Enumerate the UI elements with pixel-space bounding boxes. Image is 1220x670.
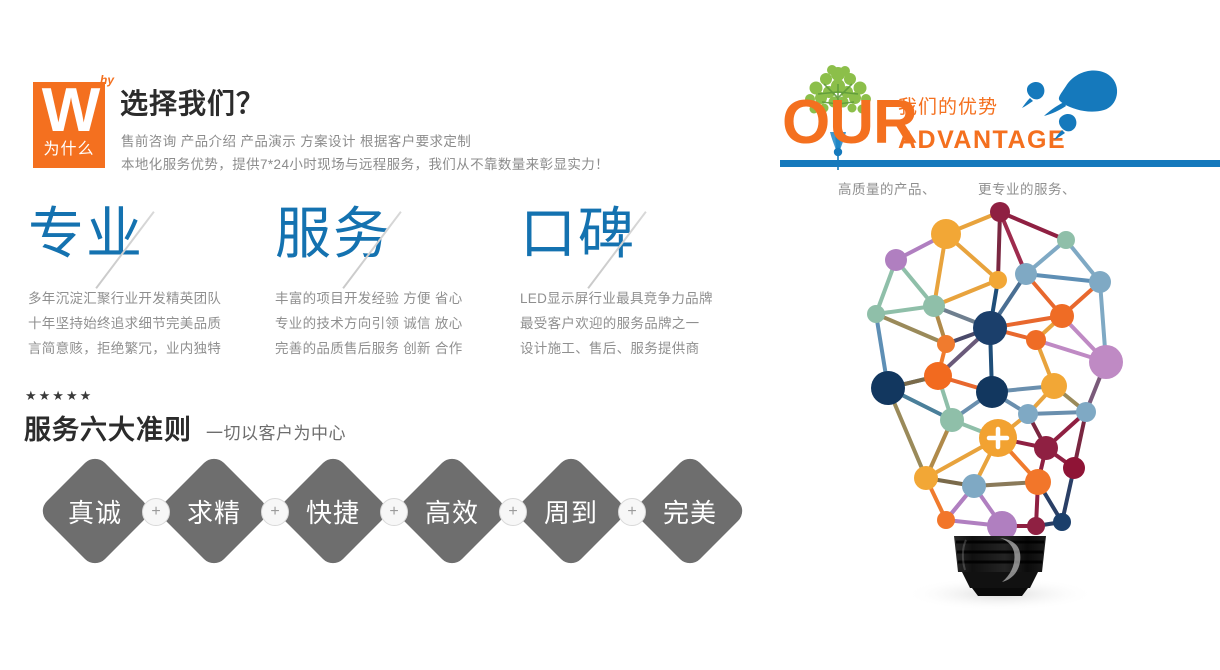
feature-line: 专业的技术方向引领 诚信 放心 bbox=[275, 311, 515, 336]
feature-heading: 服务 bbox=[275, 200, 391, 272]
why-logo-caption: 为什么 bbox=[33, 135, 105, 159]
feature-line: 丰富的项目开发经验 方便 省心 bbox=[275, 286, 515, 311]
our-wordmark: OUR bbox=[782, 92, 917, 154]
feature-column-service: 服务 丰富的项目开发经验 方便 省心 专业的技术方向引领 诚信 放心 完善的品质… bbox=[275, 200, 505, 360]
feature-heading: 专业 bbox=[28, 200, 144, 272]
feature-body: 丰富的项目开发经验 方便 省心 专业的技术方向引领 诚信 放心 完善的品质售后服… bbox=[275, 286, 515, 361]
feature-line: 言简意赅，拒绝繁冗，业内独特 bbox=[28, 336, 268, 361]
principle-diamond bbox=[394, 453, 510, 569]
principle-diamond bbox=[156, 453, 272, 569]
plus-connector-icon: + bbox=[618, 498, 646, 526]
feature-line: 完善的品质售后服务 创新 合作 bbox=[275, 336, 515, 361]
lightbulb-network-illustration bbox=[850, 196, 1150, 616]
principles-diamond-row: 真诚 求精 快捷 高效 周到 完美 + + + + + bbox=[18, 462, 758, 582]
why-logo-letter: W bbox=[33, 80, 105, 142]
plus-connector-icon: + bbox=[261, 498, 289, 526]
principle-diamond bbox=[513, 453, 629, 569]
feature-line: 设计施工、售后、服务提供商 bbox=[520, 336, 760, 361]
feature-heading: 口碑 bbox=[520, 200, 636, 272]
feature-line: LED显示屏行业最具竞争力品牌 bbox=[520, 286, 760, 311]
why-subtitle-line-1: 售前咨询 产品介绍 产品演示 方案设计 根据客户要求定制 bbox=[121, 130, 471, 150]
feature-column-professional: 专业 多年沉淀汇聚行业开发精英团队 十年坚持始终追求细节完美品质 言简意赅，拒绝… bbox=[28, 200, 258, 360]
feature-column-reputation: 口碑 LED显示屏行业最具竞争力品牌 最受客户欢迎的服务品牌之一 设计施工、售后… bbox=[520, 200, 750, 360]
feature-line: 最受客户欢迎的服务品牌之一 bbox=[520, 311, 760, 336]
principles-title: 服务六大准则 bbox=[24, 408, 192, 447]
page-title: 选择我们？ bbox=[120, 82, 265, 122]
principles-subtitle: 一切以客户为中心 bbox=[206, 419, 346, 444]
principle-diamond bbox=[632, 453, 748, 569]
star-rating-icon: ★★★★★ bbox=[25, 388, 93, 404]
advantage-subtitle-1: 高质量的产品、 bbox=[838, 178, 936, 198]
principle-diamond bbox=[275, 453, 391, 569]
advantage-cn-label: 我们的优势 bbox=[898, 92, 998, 119]
why-choose-us-panel: W 为什么 hy 选择我们？ 售前咨询 产品介绍 产品演示 方案设计 根据客户要… bbox=[0, 0, 770, 670]
our-advantage-panel: OUR 我们的优势 ADVANTAGE 高质量的产品、 更专业的服务、 bbox=[770, 0, 1220, 670]
advantage-subtitle-2: 更专业的服务、 bbox=[978, 178, 1076, 198]
infographic-canvas: W 为什么 hy 选择我们？ 售前咨询 产品介绍 产品演示 方案设计 根据客户要… bbox=[0, 0, 1220, 670]
feature-body: LED显示屏行业最具竞争力品牌 最受客户欢迎的服务品牌之一 设计施工、售后、服务… bbox=[520, 286, 760, 361]
plus-connector-icon: + bbox=[380, 498, 408, 526]
feature-line: 十年坚持始终追求细节完美品质 bbox=[28, 311, 268, 336]
principle-diamond bbox=[37, 453, 153, 569]
why-subtitle-line-2: 本地化服务优势，提供7*24小时现场与远程服务，我们从不靠数量来彰显实力！ bbox=[121, 153, 609, 173]
plus-connector-icon: + bbox=[142, 498, 170, 526]
water-splash-icon bbox=[1020, 56, 1130, 142]
feature-body: 多年沉淀汇聚行业开发精英团队 十年坚持始终追求细节完美品质 言简意赅，拒绝繁冗，… bbox=[28, 286, 268, 361]
feature-line: 多年沉淀汇聚行业开发精英团队 bbox=[28, 286, 268, 311]
why-logo-superscript: hy bbox=[100, 73, 114, 87]
plus-connector-icon: + bbox=[499, 498, 527, 526]
why-logo-badge: W 为什么 bbox=[33, 82, 105, 168]
blue-divider-bar bbox=[780, 160, 1220, 167]
